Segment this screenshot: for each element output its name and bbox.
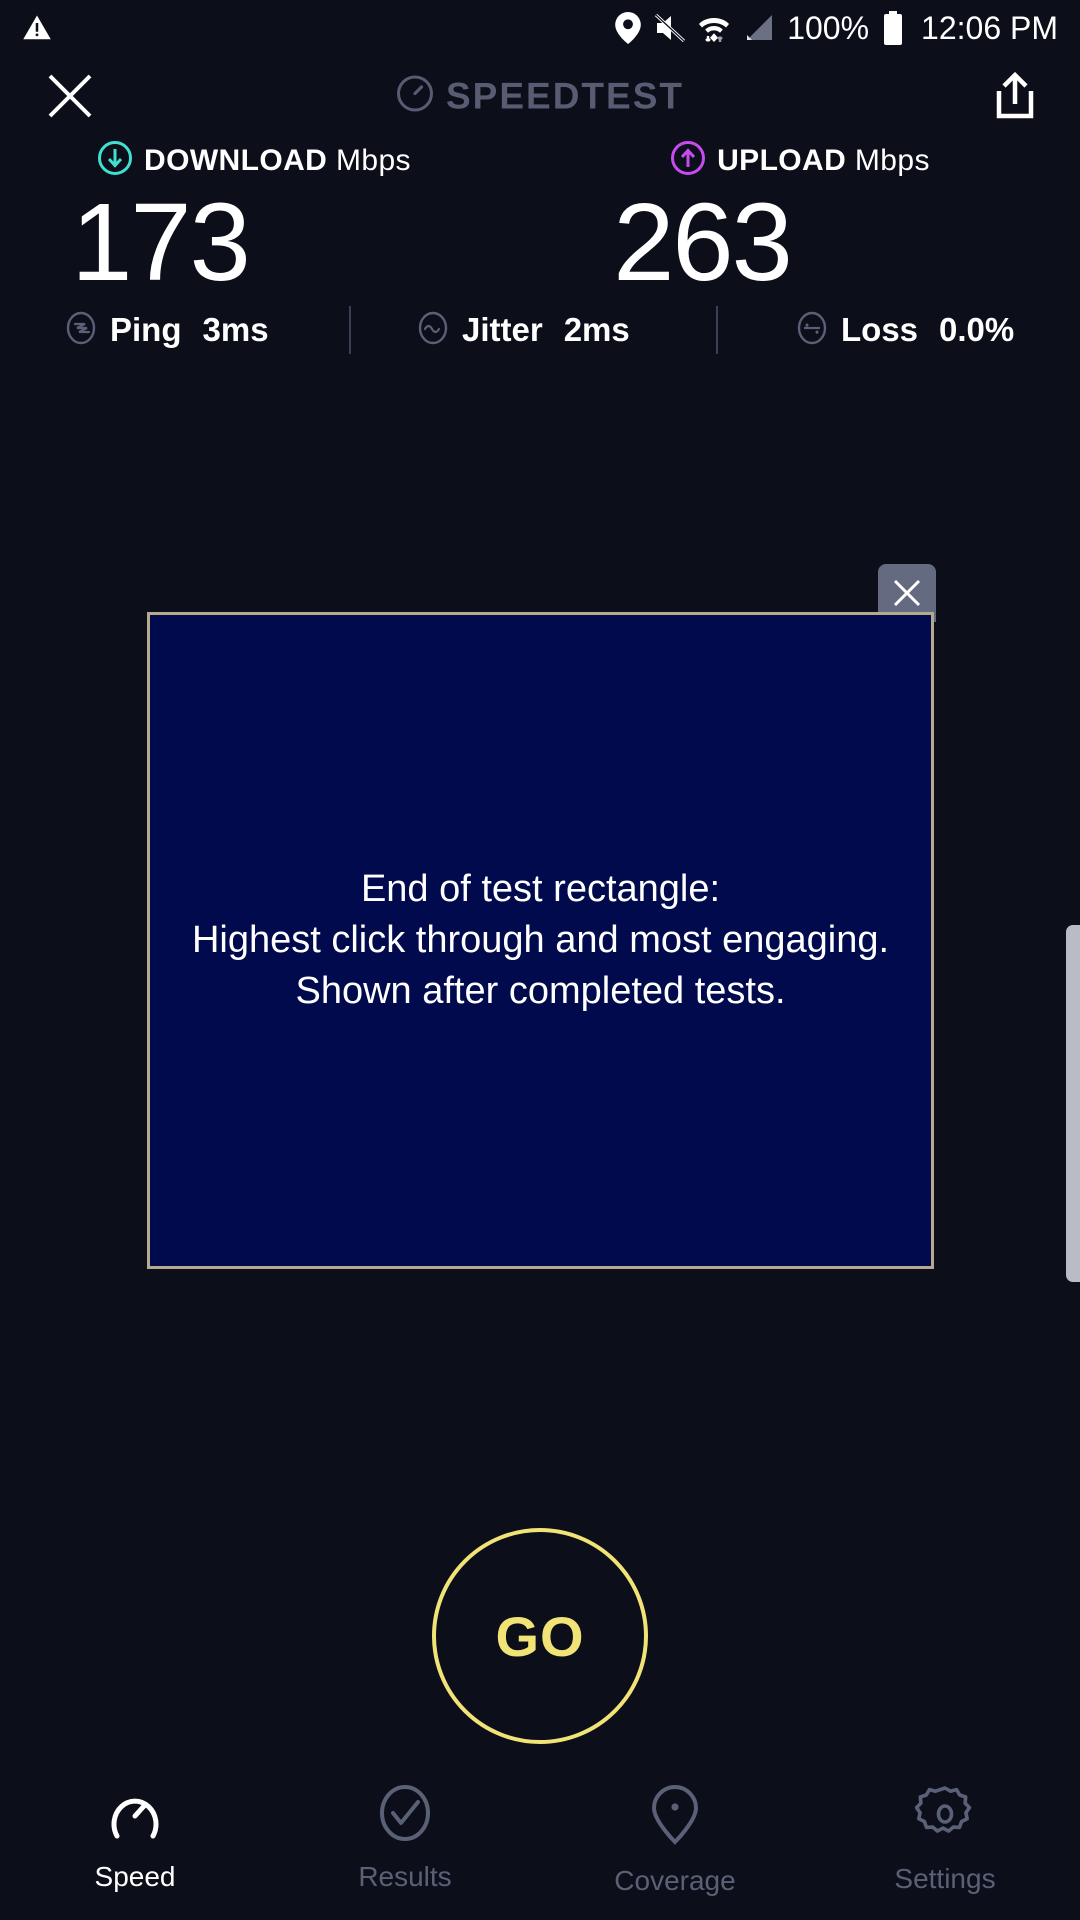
ad-line-1: End of test rectangle: (192, 864, 889, 915)
nav-item-results[interactable]: Results (270, 1784, 540, 1893)
loss-metric: Loss 0.0% (795, 311, 1014, 350)
upload-label: UPLOAD Mbps (717, 144, 930, 178)
ping-metric: Ping 3ms (64, 311, 269, 350)
advertisement-banner[interactable]: End of test rectangle: Highest click thr… (147, 612, 934, 1269)
vertical-scrollbar[interactable] (1066, 925, 1080, 1282)
speedtest-app-screen: 100% 12:06 PM SPEE (0, 0, 1080, 1920)
status-bar-left (22, 13, 52, 43)
download-header: DOWNLOAD Mbps (97, 140, 411, 181)
nav-item-coverage[interactable]: Coverage (540, 1784, 810, 1897)
nav-label-settings: Settings (894, 1863, 995, 1895)
gear-icon (915, 1784, 975, 1849)
battery-full-icon (882, 11, 904, 45)
arrow-down-circle-icon (97, 140, 133, 181)
location-pin-icon (615, 12, 641, 44)
speed-metrics-row: DOWNLOAD Mbps 173 UPLOAD Mbps 263 (0, 140, 1080, 301)
nav-item-speed[interactable]: Speed (0, 1784, 270, 1893)
nav-item-settings[interactable]: Settings (810, 1784, 1080, 1895)
jitter-icon (416, 311, 450, 350)
warning-triangle-icon (22, 13, 52, 43)
upload-value: 263 (613, 185, 791, 301)
jitter-value: 2ms (564, 311, 630, 349)
nav-label-speed: Speed (95, 1861, 176, 1893)
brand: SPEEDTEST (396, 75, 684, 118)
battery-percent-label: 100% (787, 12, 869, 44)
jitter-metric: Jitter 2ms (416, 311, 630, 350)
arrow-up-circle-icon (670, 140, 706, 181)
bottom-navigation: Speed Results Coverage (0, 1780, 1080, 1920)
wifi-icon (699, 12, 729, 44)
jitter-label: Jitter (462, 311, 543, 349)
ad-line-3: Shown after completed tests. (192, 966, 889, 1017)
share-button[interactable] (980, 61, 1050, 131)
loss-icon (795, 311, 829, 350)
speedometer-icon (106, 1784, 164, 1847)
loss-label: Loss (841, 311, 918, 349)
close-icon (47, 73, 93, 119)
ad-text: End of test rectangle: Highest click thr… (180, 864, 901, 1017)
loss-value: 0.0% (939, 311, 1014, 349)
ping-value: 3ms (203, 311, 269, 349)
upload-metric: UPLOAD Mbps 263 (540, 140, 1080, 301)
download-metric: DOWNLOAD Mbps 173 (0, 140, 540, 301)
nav-label-coverage: Coverage (614, 1865, 735, 1897)
app-header: SPEEDTEST (0, 55, 1080, 137)
volume-muted-icon (654, 13, 686, 43)
speedometer-icon (396, 75, 434, 118)
download-label: DOWNLOAD Mbps (144, 144, 411, 178)
divider-2 (716, 306, 718, 354)
check-circle-icon (376, 1784, 434, 1847)
network-quality-row: Ping 3ms Jitter 2ms (0, 300, 1080, 360)
brand-title: SPEEDTEST (446, 75, 684, 117)
results-panel: DOWNLOAD Mbps 173 UPLOAD Mbps 263 (0, 140, 1080, 301)
download-value: 173 (71, 185, 249, 301)
ping-icon (64, 311, 98, 350)
go-button-label: GO (495, 1604, 584, 1669)
status-bar: 100% 12:06 PM (0, 0, 1080, 55)
clock-label: 12:06 PM (921, 12, 1058, 44)
nav-label-results: Results (358, 1861, 451, 1893)
divider-1 (349, 306, 351, 354)
close-icon (892, 578, 922, 608)
upload-header: UPLOAD Mbps (670, 140, 930, 181)
cell-signal-icon (742, 13, 774, 43)
status-bar-right: 100% 12:06 PM (615, 11, 1058, 45)
ad-line-2: Highest click through and most engaging. (192, 915, 889, 966)
close-button[interactable] (32, 58, 108, 134)
ping-label: Ping (110, 311, 182, 349)
location-pin-icon (646, 1784, 704, 1851)
share-icon (993, 71, 1037, 121)
go-button[interactable]: GO (432, 1528, 648, 1744)
